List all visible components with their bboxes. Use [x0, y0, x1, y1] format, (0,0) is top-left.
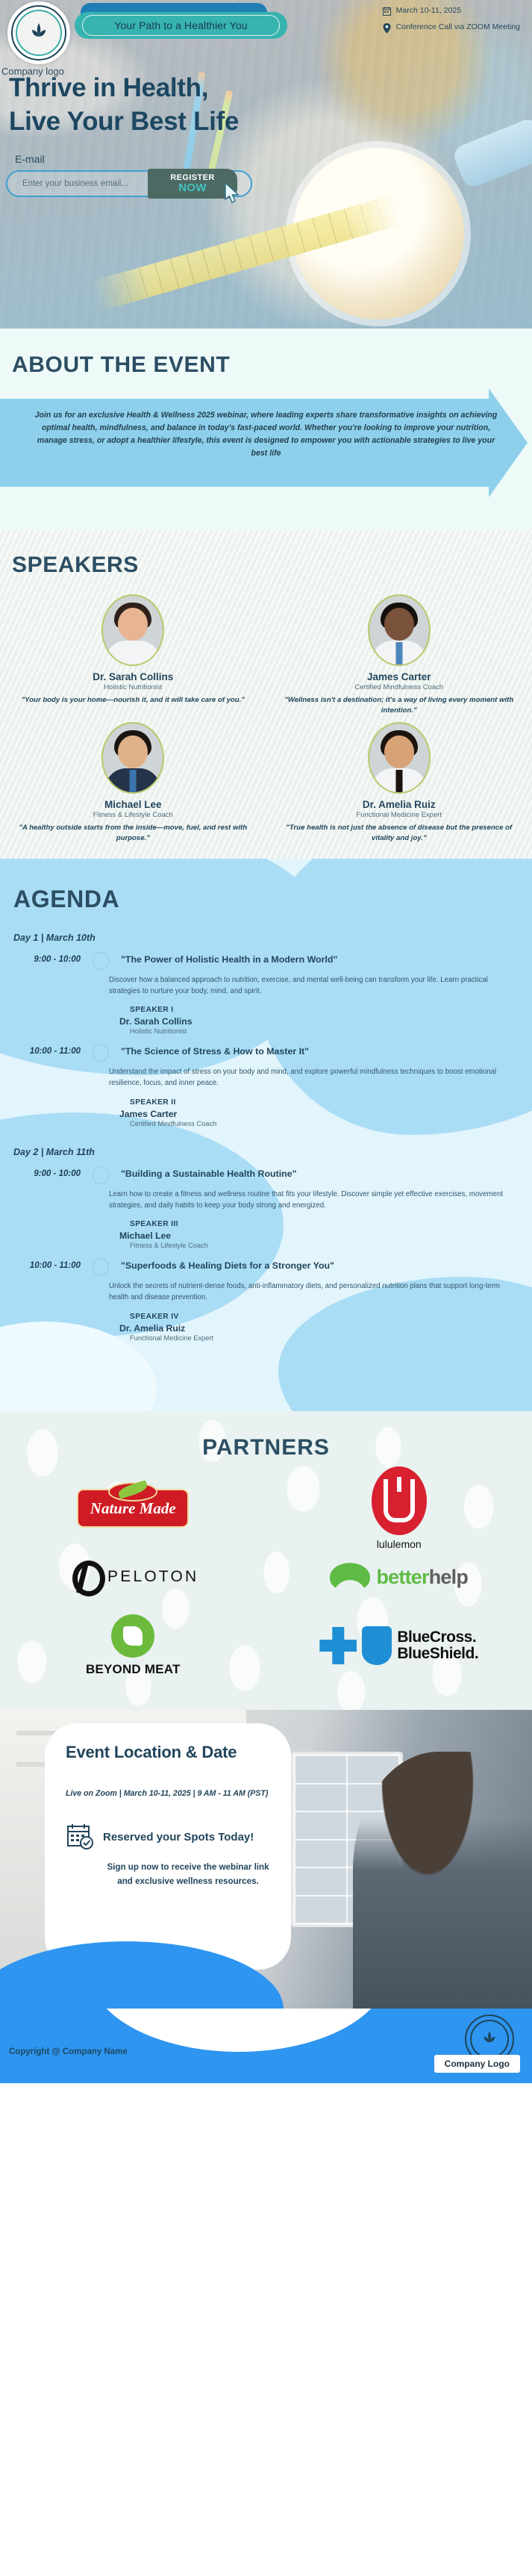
session-speaker: SPEAKER II James Carter Certified Mindfu…	[109, 1098, 532, 1127]
about-heading: ABOUT THE EVENT	[12, 352, 532, 378]
speaker-role: Holistic Nutritionist	[10, 683, 256, 691]
avatar-head	[384, 735, 414, 768]
speaker-name: Dr. Amelia Ruiz	[277, 799, 522, 810]
calendar-icon	[383, 7, 391, 16]
speaker-name: James Carter	[277, 671, 522, 682]
session-speaker-name: Michael Lee	[119, 1231, 532, 1241]
speaker-card: Dr. Sarah Collins Holistic Nutritionist …	[0, 594, 266, 716]
page-title: Thrive in Health, Live Your Best Life	[9, 72, 239, 139]
logo-outer-ring	[11, 5, 66, 60]
session-bullet-icon	[93, 1044, 109, 1062]
leaf-icon	[26, 20, 51, 46]
location-pin-icon	[383, 23, 391, 34]
event-date-row: March 10-11, 2025	[383, 6, 520, 16]
agenda-session: 9:00 - 10:00 "Building a Sustainable Hea…	[0, 1166, 532, 1249]
peloton-mark-icon	[67, 1561, 100, 1593]
session-speaker-role: Holistic Nutritionist	[130, 1027, 532, 1035]
session-speaker-label: SPEAKER III	[130, 1220, 532, 1228]
reserve-title: Reserved your Spots Today!	[103, 1831, 254, 1844]
webinar-landing-page: Your Path to a Healthier You Company log…	[0, 0, 532, 2576]
session-speaker-name: Dr. Amelia Ruiz	[119, 1323, 532, 1334]
reserve-row: Reserved your Spots Today!	[66, 1822, 272, 1852]
partners-grid: Nature Made lululemon PELOTON betterhelp…	[0, 1474, 532, 1680]
company-logo-badge[interactable]	[7, 1, 70, 64]
session-time: 9:00 - 10:00	[0, 952, 81, 964]
hero-title-line2: Live Your Best Life	[9, 105, 239, 139]
lululemon-mark-icon	[372, 1466, 427, 1535]
copyright-text: Copyright @ Company Name	[9, 2047, 128, 2056]
partner-logo-nature-made[interactable]: Nature Made	[77, 1489, 189, 1528]
partner-logo-bluecross-blueshield[interactable]: BlueCross. BlueShield.	[319, 1626, 478, 1665]
partners-section: PARTNERS Nature Made lululemon PELOTON b…	[0, 1411, 532, 1710]
agenda-session-header: 9:00 - 10:00 "Building a Sustainable Hea…	[0, 1166, 532, 1184]
hero-overlay	[0, 0, 532, 329]
blue-cross-icon	[319, 1627, 357, 1664]
partner-logo-text: lululemon	[372, 1538, 427, 1550]
session-title: "Building a Sustainable Health Routine"	[121, 1166, 297, 1179]
logo-inner-ring	[16, 10, 62, 56]
speaker-name: Michael Lee	[10, 799, 256, 810]
agenda-session: 9:00 - 10:00 "The Power of Holistic Heal…	[0, 952, 532, 1035]
about-section: ABOUT THE EVENT Join us for an exclusive…	[0, 329, 532, 530]
partner-logo-beyond-meat[interactable]: BEYOND MEAT	[86, 1614, 181, 1677]
event-location-text: Conference Call via ZOOM Meeting	[396, 22, 520, 32]
avatar-head	[118, 608, 148, 641]
session-description: Unlock the secrets of nutrient-dense foo…	[109, 1281, 532, 1303]
speaker-quote: "A healthy outside starts from the insid…	[10, 823, 256, 844]
footer-company-logo-button[interactable]: Company Logo	[434, 2055, 520, 2073]
session-title: "The Science of Stress & How to Master I…	[121, 1044, 309, 1057]
footer-wave-decoration	[90, 2009, 388, 2052]
avatar-head	[118, 735, 148, 768]
session-description: Understand the impact of stress on your …	[109, 1067, 532, 1089]
speaker-role: Certified Mindfulness Coach	[277, 683, 522, 691]
speakers-section: SPEAKERS Dr. Sarah Collins Holistic Nutr…	[0, 530, 532, 859]
avatar	[101, 594, 164, 666]
tagline-banner: Your Path to a Healthier You	[75, 3, 287, 39]
speaker-card: Michael Lee Fitness & Lifestyle Coach "A…	[0, 722, 266, 844]
page-footer: Copyright @ Company Name Company Logo	[0, 2009, 532, 2083]
session-speaker-role: Functional Medicine Expert	[130, 1334, 532, 1342]
event-location-row: Conference Call via ZOOM Meeting	[383, 22, 520, 34]
avatar-head	[384, 608, 414, 641]
session-speaker-role: Certified Mindfulness Coach	[130, 1120, 532, 1127]
session-speaker-role: Fitness & Lifestyle Coach	[130, 1242, 532, 1249]
speaker-card: Dr. Amelia Ruiz Functional Medicine Expe…	[266, 722, 532, 844]
location-section: Event Location & Date Live on Zoom | Mar…	[0, 1710, 532, 2009]
session-speaker-name: Dr. Sarah Collins	[119, 1016, 532, 1027]
bcbs-line1: BlueCross.	[397, 1629, 478, 1646]
partner-logo-text: PELOTON	[107, 1568, 198, 1586]
participant-tile	[295, 1812, 346, 1839]
session-time: 10:00 - 11:00	[0, 1258, 81, 1270]
register-button-line2: NOW	[178, 182, 207, 193]
avatar-tie	[395, 642, 402, 665]
session-time: 10:00 - 11:00	[0, 1044, 81, 1056]
participant-tile	[295, 1841, 346, 1867]
partner-logo-betterhelp[interactable]: betterhelp	[330, 1563, 468, 1591]
session-time: 9:00 - 10:00	[0, 1166, 81, 1178]
avatar-body	[105, 641, 160, 666]
tagline-pill: Your Path to a Healthier You	[75, 12, 287, 39]
session-speaker-label: SPEAKER II	[130, 1098, 532, 1107]
partner-logo-peloton[interactable]: PELOTON	[67, 1561, 198, 1593]
session-bullet-icon	[93, 1166, 109, 1184]
agenda-session: 10:00 - 11:00 "Superfoods & Healing Diet…	[0, 1258, 532, 1341]
bcbs-line2: BlueShield.	[397, 1646, 478, 1662]
leaf-icon	[479, 2029, 500, 2050]
mouse-cursor-icon	[224, 182, 240, 205]
speakers-heading: SPEAKERS	[12, 553, 532, 578]
handshake-icon	[330, 1563, 370, 1591]
agenda-day2-label: Day 2 | March 11th	[13, 1147, 532, 1157]
event-meta: March 10-11, 2025 Conference Call via ZO…	[383, 6, 520, 34]
agenda-day1-label: Day 1 | March 10th	[13, 933, 532, 943]
location-card: Event Location & Date Live on Zoom | Mar…	[45, 1723, 291, 1970]
location-details: Live on Zoom | March 10-11, 2025 | 9 AM …	[66, 1789, 272, 1798]
hero-title-line1: Thrive in Health,	[9, 73, 208, 102]
session-title: "The Power of Holistic Health in a Moder…	[121, 952, 337, 965]
agenda-session: 10:00 - 11:00 "The Science of Stress & H…	[0, 1044, 532, 1127]
speaker-role: Fitness & Lifestyle Coach	[10, 811, 256, 819]
calendar-check-icon	[66, 1822, 96, 1852]
partner-logo-text: Nature Made	[90, 1499, 176, 1518]
about-arrow-banner: Join us for an exclusive Health & Wellne…	[0, 399, 532, 487]
avatar	[101, 722, 164, 794]
agenda-session-header: 10:00 - 11:00 "Superfoods & Healing Diet…	[0, 1258, 532, 1276]
email-label: E-mail	[15, 153, 45, 165]
company-logo-caption: Company logo	[1, 66, 64, 77]
session-speaker: SPEAKER III Michael Lee Fitness & Lifest…	[109, 1220, 532, 1249]
event-date-text: March 10-11, 2025	[396, 6, 461, 16]
avatar	[368, 722, 431, 794]
session-speaker-label: SPEAKER I	[130, 1006, 532, 1014]
session-title: "Superfoods & Healing Diets for a Strong…	[121, 1258, 334, 1271]
beyond-meat-mark-icon	[111, 1614, 154, 1658]
betterhelp-text-part1: better	[376, 1566, 428, 1588]
about-body-text: Join us for an exclusive Health & Wellne…	[0, 399, 532, 461]
partner-logo-text: BEYOND MEAT	[86, 1662, 181, 1677]
agenda-session-header: 9:00 - 10:00 "The Power of Holistic Heal…	[0, 952, 532, 970]
participant-tile	[295, 1756, 346, 1783]
partners-heading: PARTNERS	[0, 1411, 532, 1460]
session-speaker: SPEAKER IV Dr. Amelia Ruiz Functional Me…	[109, 1313, 532, 1342]
speaker-quote: "Your body is your home—nourish it, and …	[10, 695, 256, 706]
speaker-quote: "True health is not just the absence of …	[277, 823, 522, 844]
speaker-name: Dr. Sarah Collins	[10, 671, 256, 682]
hero-section: Your Path to a Healthier You Company log…	[0, 0, 532, 329]
agenda-heading: AGENDA	[13, 886, 532, 913]
viewer-silhouette	[353, 1752, 532, 2009]
agenda-session-header: 10:00 - 11:00 "The Science of Stress & H…	[0, 1044, 532, 1062]
betterhelp-text-part2: help	[429, 1566, 468, 1588]
participant-tile	[295, 1785, 346, 1811]
location-heading: Event Location & Date	[66, 1743, 272, 1762]
session-bullet-icon	[93, 952, 109, 970]
session-speaker-name: James Carter	[119, 1109, 532, 1119]
session-speaker: SPEAKER I Dr. Sarah Collins Holistic Nut…	[109, 1006, 532, 1035]
blue-shield-icon	[362, 1626, 392, 1665]
session-description: Learn how to create a fitness and wellne…	[109, 1189, 532, 1211]
session-bullet-icon	[93, 1258, 109, 1276]
agenda-section: AGENDA Day 1 | March 10th 9:00 - 10:00 "…	[0, 859, 532, 1411]
speaker-card: James Carter Certified Mindfulness Coach…	[266, 594, 532, 716]
session-speaker-label: SPEAKER IV	[130, 1313, 532, 1321]
participant-tile	[295, 1897, 346, 1923]
speakers-grid: Dr. Sarah Collins Holistic Nutritionist …	[0, 594, 532, 844]
session-description: Discover how a balanced approach to nutr…	[109, 975, 532, 997]
participant-tile	[295, 1868, 346, 1895]
tagline-text: Your Path to a Healthier You	[114, 19, 247, 31]
speaker-quote: "Wellness isn't a destination; it's a wa…	[277, 695, 522, 716]
partner-logo-text: betterhelp	[376, 1566, 468, 1589]
speaker-role: Functional Medicine Expert	[277, 811, 522, 819]
partner-logo-lululemon[interactable]: lululemon	[372, 1466, 427, 1550]
reserve-note: Sign up now to receive the webinar link …	[66, 1861, 272, 1889]
partner-logo-text: BlueCross. BlueShield.	[397, 1629, 478, 1663]
avatar	[368, 594, 431, 666]
footer-logo-inner-ring	[470, 2020, 509, 2059]
avatar-tie	[395, 770, 402, 792]
avatar-tie	[130, 770, 137, 792]
